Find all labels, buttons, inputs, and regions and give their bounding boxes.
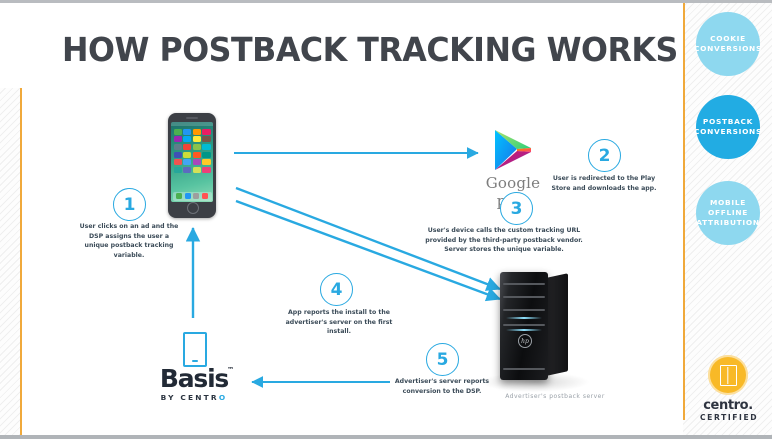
step-3-text: User's device calls the custom tracking … (424, 226, 584, 255)
basis-device-icon (183, 332, 207, 367)
phone-dock (173, 192, 212, 201)
app-icon (183, 159, 191, 165)
step-5-text: Advertiser's server reports conversion t… (388, 377, 496, 396)
step-5-number: 5 (426, 343, 459, 376)
server-illustration: hp (496, 272, 570, 382)
app-icon (174, 129, 182, 135)
top-edge-bar (0, 0, 772, 3)
badge-mobile-line3: ATTRIBUTION (696, 218, 759, 228)
app-icon (183, 167, 191, 173)
bottom-edge-bar (0, 435, 772, 439)
app-icon (174, 136, 182, 142)
centro-certified-text: CERTIFIED (700, 413, 756, 422)
phone-home-button (187, 202, 199, 214)
badge-postback-conversions[interactable]: POSTBACK CONVERSIONS (696, 95, 760, 159)
app-icon (183, 129, 191, 135)
google-play-triangle-icon (491, 128, 535, 172)
app-icon (202, 159, 210, 165)
dock-phone-icon (176, 193, 182, 199)
badge-mobile-line1: MOBILE (696, 198, 759, 208)
step-4-number: 4 (320, 273, 353, 306)
server-front-panel: hp (500, 272, 548, 380)
basis-name-text: Basis (160, 364, 228, 393)
app-icon (183, 152, 191, 158)
step-1-number: 1 (113, 188, 146, 221)
badge-postback-line1: POSTBACK (694, 117, 762, 127)
phone-app-grid (171, 126, 213, 173)
app-icon (174, 167, 182, 173)
basis-wordmark: Basis™ (160, 366, 228, 391)
basis-byline: BY CENTRO (146, 393, 242, 402)
server-caption: Advertiser's postback server (505, 392, 605, 401)
centro-name-text: centro (703, 398, 748, 413)
step-3-number: 3 (500, 192, 533, 225)
centro-wordmark: centro. (700, 399, 756, 412)
smartphone-illustration (168, 113, 216, 218)
app-icon (202, 144, 210, 150)
basis-byline-accent: O (219, 393, 227, 402)
basis-trademark: ™ (227, 367, 234, 374)
app-icon (193, 167, 201, 173)
slide-canvas: HOW POSTBACK TRACKING WORKS COOKIE CONVE… (0, 0, 772, 439)
app-icon (202, 136, 210, 142)
badge-cookie-line2: CONVERSIONS (694, 44, 762, 54)
server-bay (503, 324, 545, 326)
dock-mail-icon (185, 193, 191, 199)
basis-byline-pre: BY CENTR (161, 393, 219, 402)
centro-certified-logo: centro. CERTIFIED (700, 355, 756, 422)
step-2-number: 2 (588, 139, 621, 172)
badge-postback-line2: CONVERSIONS (694, 127, 762, 137)
app-icon (193, 136, 201, 142)
server-bay (503, 283, 545, 285)
phone-screen (171, 122, 213, 202)
phone-speaker (186, 117, 198, 119)
app-icon (193, 144, 201, 150)
right-orange-rule (683, 3, 685, 420)
server-led (506, 317, 542, 319)
app-icon (183, 136, 191, 142)
app-icon (193, 129, 201, 135)
step-4-text: App reports the install to the advertise… (281, 308, 397, 337)
badge-cookie-conversions[interactable]: COOKIE CONVERSIONS (696, 12, 760, 76)
step-1-text: User clicks on an ad and the DSP assigns… (76, 222, 182, 260)
badge-cookie-line1: COOKIE (694, 34, 762, 44)
app-icon (202, 167, 210, 173)
dock-safari-icon (193, 193, 199, 199)
server-led (506, 329, 542, 331)
app-icon (202, 129, 210, 135)
badge-mobile-offline-attribution[interactable]: MOBILE OFFLINE ATTRIBUTION (696, 181, 760, 245)
dock-music-icon (202, 193, 208, 199)
app-icon (183, 144, 191, 150)
server-bay (503, 296, 545, 298)
app-icon (174, 152, 182, 158)
centro-coin-icon (708, 355, 748, 395)
left-hatch-panel (0, 88, 20, 435)
basis-logo: Basis™ BY CENTRO (146, 366, 242, 402)
centro-dot: . (748, 398, 753, 413)
left-orange-rule (20, 88, 22, 435)
app-icon (174, 159, 182, 165)
step-2-text: User is redirected to the Play Store and… (551, 174, 657, 193)
hp-logo-icon: hp (518, 334, 532, 348)
server-bay (503, 368, 545, 370)
badge-mobile-line2: OFFLINE (696, 208, 759, 218)
page-title: HOW POSTBACK TRACKING WORKS (62, 30, 678, 69)
app-icon (193, 159, 201, 165)
book-icon (720, 365, 737, 386)
server-bay (503, 309, 545, 311)
app-icon (202, 152, 210, 158)
app-icon (174, 144, 182, 150)
app-icon (193, 152, 201, 158)
